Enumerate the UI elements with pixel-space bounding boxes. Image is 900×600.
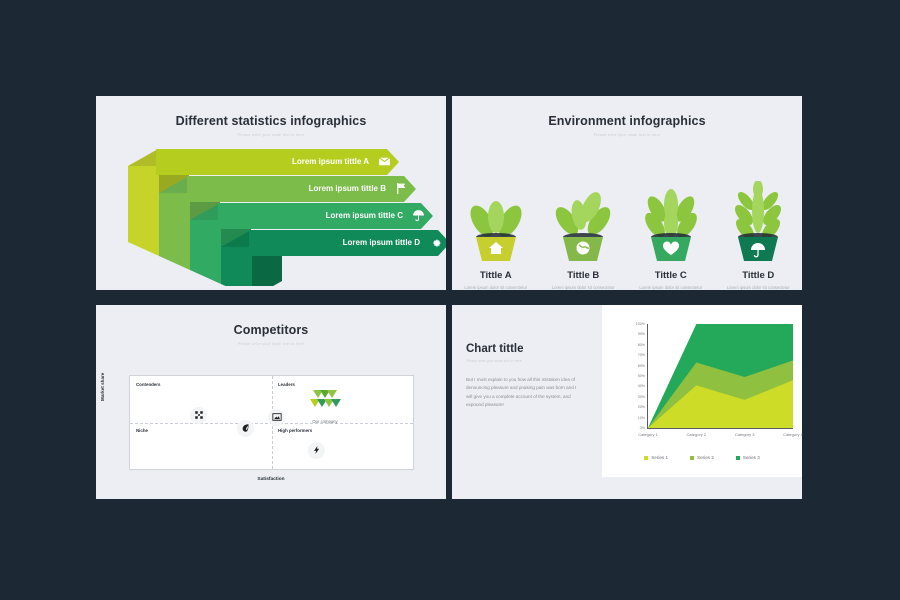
chart-y-tick: 70%: [638, 353, 645, 357]
arrow-item-c-label: Lorem ipsum tittle C: [326, 211, 403, 220]
competitor-marker-leaf-swirl[interactable]: [237, 420, 254, 437]
arrow-chart: Lorem ipsum tittle A Lorem ipsum tittle …: [96, 146, 446, 286]
plant-desc-c: Lorem ipsum dolor sit consectetur: [632, 285, 710, 291]
mountain-icon: [272, 409, 282, 427]
plant-title-b: Tittle B: [544, 270, 622, 281]
our-company-marker[interactable]: Our company: [290, 390, 360, 424]
plant-art-d: [719, 181, 797, 263]
plant-title-a: Tittle A: [457, 270, 535, 281]
chart-y-tick: 50%: [638, 374, 645, 378]
presentation-canvas: Different statistics infographics Please…: [0, 0, 900, 600]
chart-y-tick: 30%: [638, 395, 645, 399]
chart-x-tick: Category 3: [735, 432, 755, 437]
arrow-item-a-label: Lorem ipsum tittle A: [292, 157, 369, 166]
slide1-subtitle: Please write your small text in here: [96, 133, 446, 137]
slide-environment-infographics: Environment infographics Please write yo…: [452, 96, 802, 290]
quadrant-label-leaders: Leaders: [278, 382, 295, 387]
competitor-marker-mountain[interactable]: [268, 409, 285, 426]
chart-x-axis-line: [647, 428, 793, 429]
plant-item-d[interactable]: Tittle D Lorem ipsum dolor sit consectet…: [719, 181, 797, 291]
arrow-item-d-label: Lorem ipsum tittle D: [343, 238, 420, 247]
plant-item-a[interactable]: Tittle A Lorem ipsum dolor sit consectet…: [457, 181, 535, 291]
bolt-icon: [312, 442, 322, 460]
chart-y-tick: 0%: [640, 426, 645, 430]
plant-art-c: [632, 181, 710, 263]
triangles-logo: [308, 399, 342, 416]
chart-y-tick: 10%: [638, 416, 645, 420]
chart-y-tick: 40%: [638, 384, 645, 388]
competitor-marker-bolt[interactable]: [308, 442, 325, 459]
legend-item-2[interactable]: Series 2: [690, 455, 714, 460]
chart-y-tick: 80%: [638, 343, 645, 347]
chart-canvas: 0%10%20%30%40%50%60%70%80%90%100% Catego…: [602, 305, 802, 477]
legend-label: Series 3: [743, 455, 760, 460]
area-chart-plot: 0%10%20%30%40%50%60%70%80%90%100% Catego…: [648, 324, 793, 428]
slide2-title: Environment infographics: [452, 114, 802, 128]
slide-statistics-infographics: Different statistics infographics Please…: [96, 96, 446, 290]
plant-title-c: Tittle C: [632, 270, 710, 281]
legend-swatch: [644, 456, 648, 460]
plant-group: Tittle A Lorem ipsum dolor sit consectet…: [452, 141, 802, 290]
chart-x-tick: Category 1: [638, 432, 658, 437]
chart-title: Chart tittle: [466, 343, 578, 355]
quadrant-label-contenders: Contenders: [136, 382, 160, 387]
slide2-subtitle: Please write your small text in here: [452, 133, 802, 137]
leaf-swirl-icon: [241, 420, 251, 438]
competitor-matrix: Market share Contenders Leaders Niche Hi…: [96, 365, 446, 495]
envelope-icon: [377, 155, 391, 169]
chart-y-tick: 60%: [638, 364, 645, 368]
slide3-title: Competitors: [96, 323, 446, 337]
blocks-icon: [194, 407, 204, 425]
plant-desc-b: Lorem ipsum dolor sit consectetur: [544, 285, 622, 291]
our-company-label: Our company: [290, 419, 360, 424]
arrow-item-d[interactable]: Lorem ipsum tittle D: [249, 230, 446, 255]
gear-icon: [428, 236, 442, 250]
chart-y-tick: 90%: [638, 332, 645, 336]
legend-item-3[interactable]: Series 3: [736, 455, 760, 460]
legend-label: Series 1: [651, 455, 668, 460]
plant-item-b[interactable]: Tittle B Lorem ipsum dolor sit consectet…: [544, 181, 622, 291]
legend-swatch: [736, 456, 740, 460]
slide-chart: Chart tittle Please write your small tex…: [452, 305, 802, 499]
chart-x-tick: Category 4: [783, 432, 802, 437]
chart-legend: Series 1Series 2Series 3: [602, 455, 802, 460]
matrix-x-axis-label: Satisfaction: [96, 477, 446, 482]
slide3-subtitle: Please write your small text in here: [96, 342, 446, 346]
arrow-item-a[interactable]: Lorem ipsum tittle A: [156, 149, 399, 174]
quadrant-label-high-performers: High performers: [278, 428, 312, 433]
matrix-grid: Contenders Leaders Niche High performers: [129, 375, 414, 470]
competitor-marker-blocks[interactable]: [190, 407, 207, 424]
chart-y-tick: 20%: [638, 405, 645, 409]
legend-item-1[interactable]: Series 1: [644, 455, 668, 460]
plant-title-d: Tittle D: [719, 270, 797, 281]
plant-desc-a: Lorem ipsum dolor sit consectetur: [457, 285, 535, 291]
chart-body-text: But I must explain to you how all this m…: [466, 376, 578, 410]
plant-desc-d: Lorem ipsum dolor sit consectetur: [719, 285, 797, 291]
arrow-item-b[interactable]: Lorem ipsum tittle B: [187, 176, 416, 201]
matrix-y-axis-label: Market share: [100, 373, 105, 401]
chart-x-tick: Category 2: [687, 432, 707, 437]
chart-text-block: Chart tittle Please write your small tex…: [466, 343, 578, 410]
chart-subtitle: Please write your small text in here: [466, 359, 578, 363]
slide-competitors: Competitors Please write your small text…: [96, 305, 446, 499]
umbrella-icon: [411, 209, 425, 223]
arrow-item-b-label: Lorem ipsum tittle B: [309, 184, 386, 193]
flag-icon: [394, 182, 408, 196]
quadrant-label-niche: Niche: [136, 428, 148, 433]
arrow-item-c[interactable]: Lorem ipsum tittle C: [218, 203, 433, 228]
area-series-group: [648, 324, 793, 428]
slide1-title: Different statistics infographics: [96, 114, 446, 128]
legend-label: Series 2: [697, 455, 714, 460]
plant-item-c[interactable]: Tittle C Lorem ipsum dolor sit consectet…: [632, 181, 710, 291]
chart-y-tick: 100%: [636, 322, 645, 326]
plant-art-a: [457, 181, 535, 263]
legend-swatch: [690, 456, 694, 460]
plant-art-b: [544, 181, 622, 263]
